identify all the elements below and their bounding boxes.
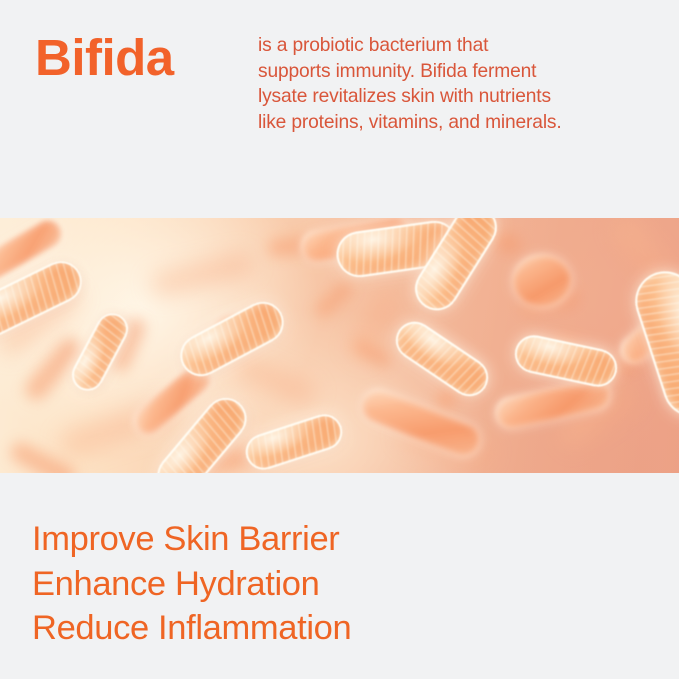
ingredient-card: Bifida is a probiotic bacterium that sup… (0, 0, 679, 679)
benefits-list: Improve Skin Barrier Enhance Hydration R… (32, 517, 592, 651)
bacteria-rod-bg (313, 279, 355, 320)
description-line-4: like proteins, vitamins, and minerals. (258, 110, 658, 136)
bacteria-rod-focus (241, 409, 347, 473)
bacteria-image-band (0, 218, 679, 473)
bacteria-rod-mid (512, 254, 572, 308)
description-line-2: supports immunity. Bifida ferment (258, 59, 658, 85)
benefit-item-3: Reduce Inflammation (32, 606, 592, 651)
header-section: Bifida is a probiotic bacterium that sup… (0, 0, 679, 218)
description-line-3: lysate revitalizes skin with nutrients (258, 84, 658, 110)
page-title: Bifida (35, 31, 174, 85)
ingredient-description: is a probiotic bacterium that supports i… (258, 33, 658, 135)
benefit-item-1: Improve Skin Barrier (32, 517, 592, 562)
bacteria-rod-bg (231, 352, 319, 409)
benefit-item-2: Enhance Hydration (32, 562, 592, 607)
bacteria-rod-bg (149, 250, 256, 298)
description-line-1: is a probiotic bacterium that (258, 33, 658, 59)
